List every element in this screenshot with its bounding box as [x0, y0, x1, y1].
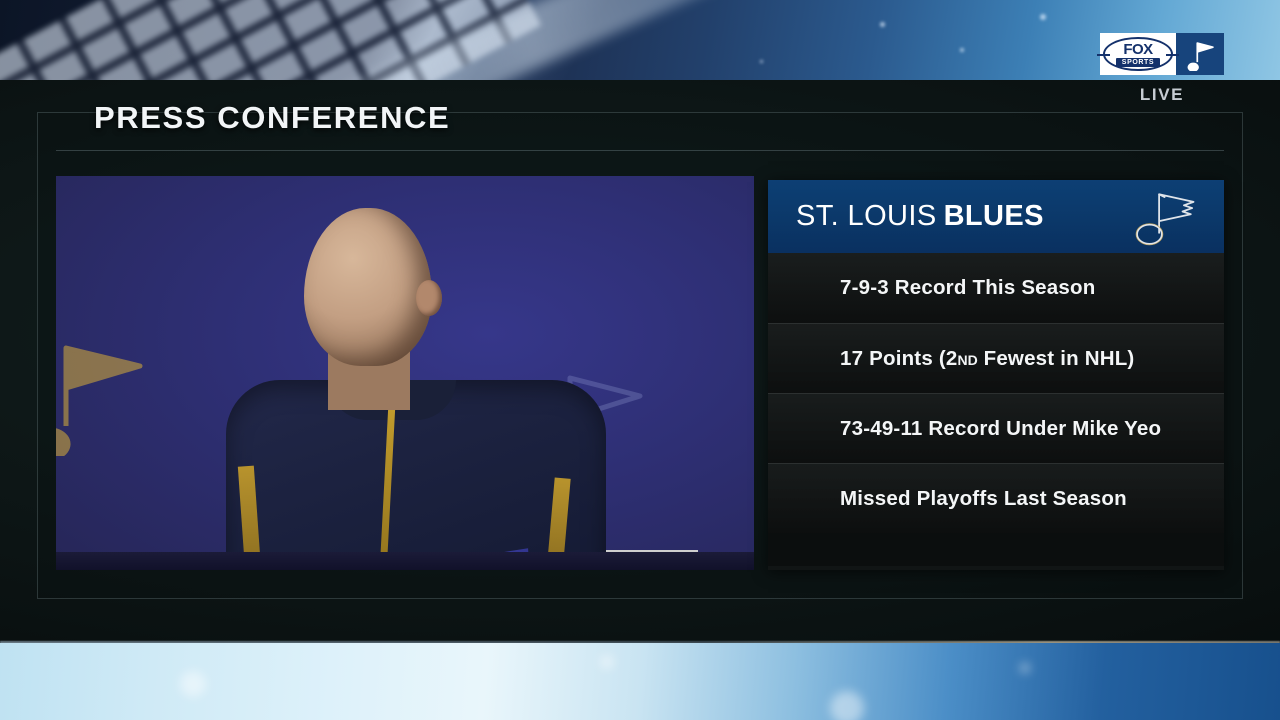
blues-note-icon — [1176, 33, 1224, 75]
team-city: ST. LOUIS — [796, 200, 937, 232]
title-divider — [56, 150, 1224, 151]
press-conference-video[interactable]: rise — [56, 176, 754, 570]
stat-text: 73-49-11 Record Under Mike Yeo — [840, 417, 1161, 441]
team-header: ST. LOUISBLUES — [768, 180, 1224, 253]
stat-text-lead: 17 Points (2 — [840, 347, 957, 370]
team-nickname: BLUES — [944, 200, 1044, 232]
background-ice-banner — [0, 643, 1280, 720]
team-stats-card: ST. LOUISBLUES 7-9-3 Record This Season … — [768, 180, 1224, 570]
subject-ear — [416, 280, 442, 316]
fox-sports-logo: FOX SPORTS — [1100, 33, 1176, 75]
page-title: PRESS CONFERENCE — [94, 100, 450, 136]
stat-text: Missed Playoffs Last Season — [840, 487, 1127, 511]
background-top-banner — [0, 0, 1280, 80]
stat-row: 7-9-3 Record This Season — [768, 253, 1224, 323]
ice-glow — [600, 655, 614, 669]
table-edge — [56, 552, 754, 570]
press-conference-subject — [216, 198, 616, 570]
stat-text-ordinal: ND — [957, 352, 977, 368]
ice-glow — [830, 691, 864, 720]
subject-head — [304, 208, 432, 366]
backdrop-blues-logo-icon — [56, 326, 176, 456]
fox-wordmark: FOX — [1123, 42, 1152, 57]
stat-text-tail: Fewest in NHL) — [978, 347, 1135, 370]
stat-row: 17 Points (2ND Fewest in NHL) — [768, 323, 1224, 393]
sports-wordmark: SPORTS — [1116, 58, 1160, 67]
live-indicator: LIVE — [1100, 85, 1224, 105]
card-footer-spacer — [768, 533, 1224, 566]
team-name: ST. LOUISBLUES — [796, 200, 1044, 233]
stat-text: 7-9-3 Record This Season — [840, 276, 1095, 300]
stat-row: Missed Playoffs Last Season — [768, 463, 1224, 533]
stat-row: 73-49-11 Record Under Mike Yeo — [768, 393, 1224, 463]
spark-dot — [760, 60, 763, 63]
network-logo-bug: FOX SPORTS — [1100, 33, 1224, 75]
blues-note-icon — [1130, 186, 1202, 248]
stat-text: 17 Points (2ND Fewest in NHL) — [840, 347, 1134, 371]
spark-dot — [880, 22, 885, 27]
broadcast-screen: FOX SPORTS LIVE PRESS CONFERENCE — [0, 0, 1280, 720]
ice-glow — [1020, 663, 1030, 673]
spark-dot — [960, 48, 964, 52]
ice-glow — [180, 671, 206, 697]
fox-oval-icon: FOX SPORTS — [1103, 37, 1173, 71]
spark-dot — [1040, 14, 1046, 20]
stats-list: 7-9-3 Record This Season 17 Points (2ND … — [768, 253, 1224, 566]
